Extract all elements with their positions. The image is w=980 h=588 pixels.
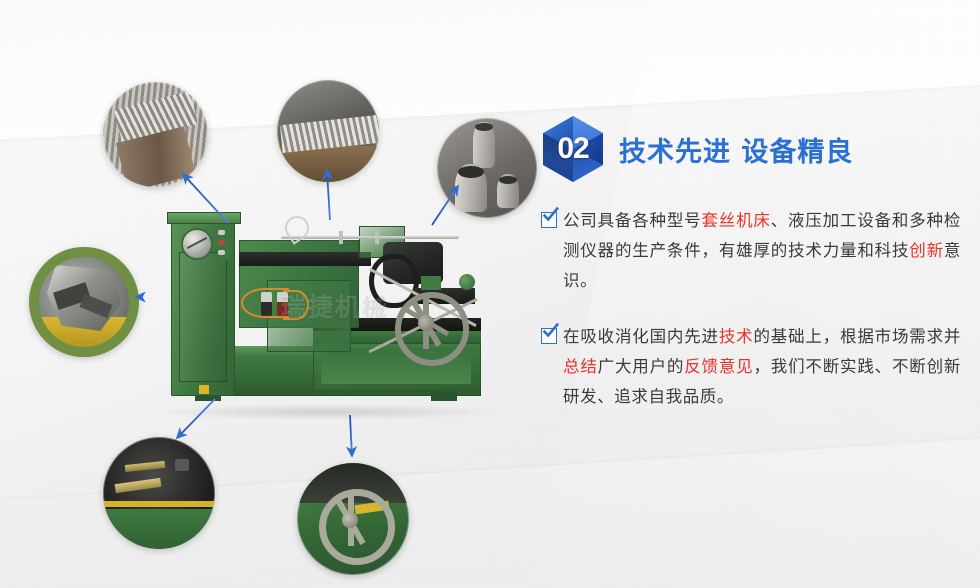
threading-machine-photo: 瑞捷机械 [163,196,493,412]
feature-item-2: 在吸收消化国内先进技术的基础上，根据市场需求并总结广大用户的反馈意见，我们不断实… [541,322,961,412]
badge-number: 02 [543,116,603,182]
photo-watermark: 瑞捷机械 [281,288,431,322]
feature-item-1: 公司具备各种型号套丝机床、液压加工设备和多种检测仪器的生产条件，有雄厚的技术力量… [541,206,961,296]
promo-banner: 瑞捷机械 [0,0,980,588]
feature-text-1: 公司具备各种型号套丝机床、液压加工设备和多种检测仪器的生产条件，有雄厚的技术力量… [563,206,961,296]
text-column: 02 技术先进 设备精良 公司具备各种型号套丝机床、液压加工设备和多种检测仪器的… [503,0,980,588]
detail-threaded-rod-top-left [103,82,208,187]
arrow-to-detail-6 [350,415,352,456]
highlighted-keyword: 总结 [563,357,598,376]
step-number-badge: 02 [543,116,603,182]
checkmark-icon [541,212,557,228]
highlighted-keyword: 创新 [909,241,944,260]
checkmark-icon [541,328,557,344]
detail-threaded-bar-bench [277,80,379,182]
highlighted-keyword: 技术 [719,327,754,346]
detail-motor-gearbox [103,437,215,549]
machine-pressure-gauge [181,228,213,260]
detail-hand-wheel [297,463,409,575]
feature-text-2: 在吸收消化国内先进技术的基础上，根据市场需求并总结广大用户的反馈意见，我们不断实… [563,322,961,412]
section-header: 02 技术先进 设备精良 [543,116,853,182]
detail-die-head-chuck [29,247,139,357]
highlighted-keyword: 反馈意见 [684,357,753,376]
section-title: 技术先进 设备精良 [619,130,853,169]
product-photo-collage: 瑞捷机械 [0,0,520,588]
highlighted-keyword: 套丝机床 [702,211,771,230]
